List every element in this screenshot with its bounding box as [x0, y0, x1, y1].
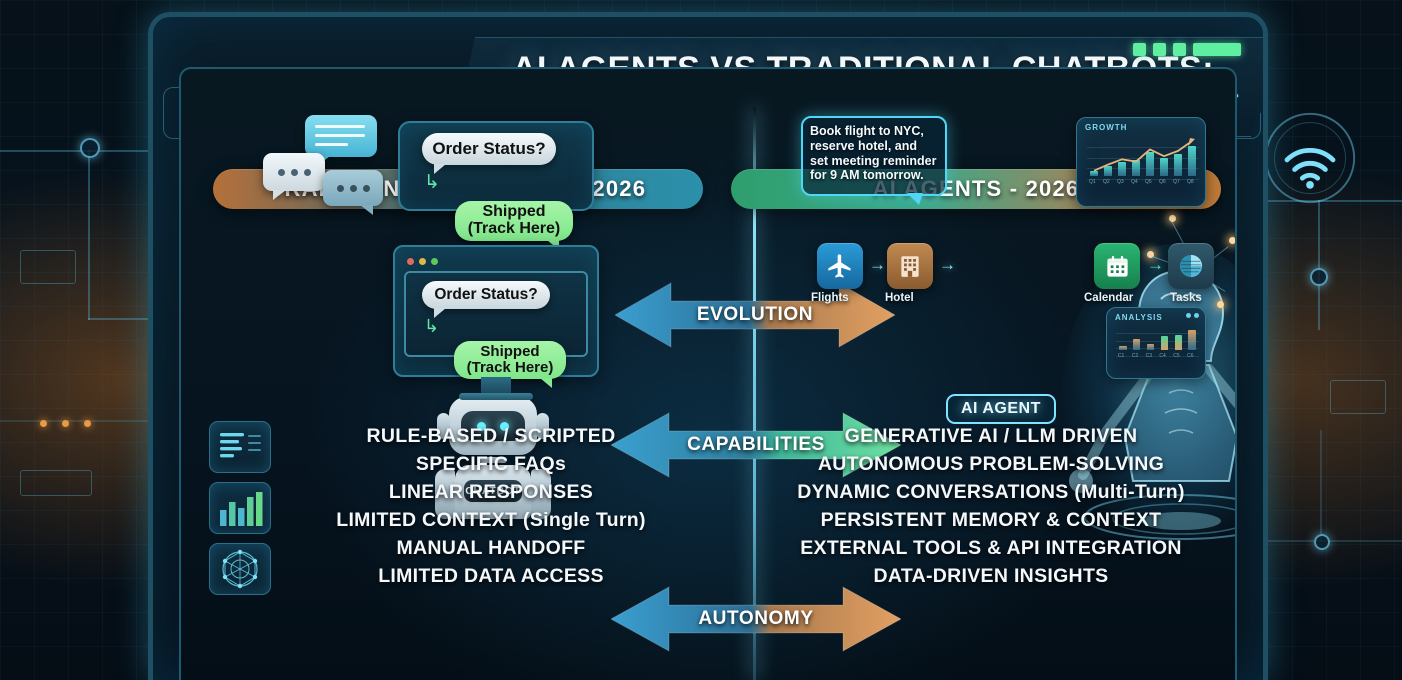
- monitor-base: [459, 393, 533, 400]
- status-block: [1153, 43, 1166, 56]
- network-node: [1229, 237, 1236, 244]
- bg-node: [1310, 268, 1328, 286]
- chat-question-bubble: Order Status?: [422, 133, 556, 165]
- bg-chip: [1330, 380, 1386, 414]
- status-badge: AI AGENT: [946, 394, 1056, 424]
- tool-arrow-icon: →: [869, 255, 886, 275]
- chart-title-analysis: ANALYSIS: [1115, 313, 1163, 322]
- chart-bar: [1188, 330, 1195, 350]
- chat-bubble-dots: [263, 153, 325, 191]
- bg-circuit-line: [88, 318, 148, 320]
- chat-question-text: Order Status?: [432, 139, 545, 159]
- prompt-bubble-text: Book flight to NYC, reserve hotel, and s…: [810, 124, 938, 183]
- chart-bar: [1133, 339, 1140, 350]
- bg-dot: [84, 420, 91, 427]
- chat-card: Order Status? ↳ Shipped (Track Here): [398, 121, 594, 211]
- chart-title-growth: GROWTH: [1085, 123, 1127, 132]
- ai-agent-feature-1: AUTONOMOUS PROBLEM-SOLVING: [818, 453, 1164, 476]
- monitor-answer-line1: Shipped: [480, 344, 539, 360]
- chart-xtick: C4: [1159, 353, 1165, 359]
- tool-label-calendar: Calendar: [1084, 292, 1133, 304]
- chat-bubble-lines: [305, 115, 377, 157]
- tool-label-tasks: Tasks: [1170, 292, 1202, 304]
- bg-dot: [62, 420, 69, 427]
- building-icon[interactable]: [887, 243, 933, 289]
- chart-bar: [1161, 336, 1168, 350]
- bg-node: [1314, 534, 1330, 550]
- wifi-icon: [1262, 110, 1358, 206]
- chat-answer-line2: (Track Here): [468, 221, 561, 238]
- ai-agent-feature-3: PERSISTENT MEMORY & CONTEXT: [821, 509, 1162, 532]
- chart-plot-analysis: C1C2C3C4C5C6: [1116, 325, 1199, 364]
- ai-agent-feature-4: EXTERNAL TOOLS & API INTEGRATION: [800, 537, 1182, 560]
- traditional-feature-2: LINEAR RESPONSES: [389, 481, 593, 504]
- chart-card-controls[interactable]: [1186, 313, 1199, 318]
- bg-chip: [20, 250, 76, 284]
- chart-bar: [1175, 335, 1182, 350]
- chart-bar: [1119, 346, 1126, 350]
- hud-status-blocks: [1133, 43, 1241, 56]
- chat-bubble-cluster: [263, 115, 403, 225]
- chart-xtick: C3: [1146, 353, 1152, 359]
- monitor-stand: [481, 377, 511, 393]
- airplane-icon[interactable]: [817, 243, 863, 289]
- traditional-feature-3: LIMITED CONTEXT (Single Turn): [336, 509, 645, 532]
- monitor-question-text: Order Status?: [434, 286, 537, 304]
- traditional-feature-5: LIMITED DATA ACCESS: [378, 565, 604, 588]
- bg-circuit-line: [0, 150, 148, 152]
- text-list-icon: [209, 421, 271, 473]
- chart-card-analysis: ANALYSIS C1C2C3C4C5C6: [1106, 307, 1206, 379]
- tool-label-hotel: Hotel: [885, 292, 914, 304]
- calendar-icon[interactable]: [1094, 243, 1140, 289]
- connector-arrow-autonomy: AUTONOMY: [611, 581, 901, 657]
- chart-gridline: [1116, 341, 1199, 342]
- chart-xtick: C5: [1173, 353, 1179, 359]
- status-block: [1133, 43, 1146, 56]
- ai-agent-feature-0: GENERATIVE AI / LLM DRIVEN: [845, 425, 1138, 448]
- chat-answer-bubble: Shipped (Track Here): [455, 201, 573, 241]
- traditional-feature-1: SPECIFIC FAQs: [416, 453, 566, 476]
- monitor-answer-bubble: Shipped (Track Here): [454, 341, 566, 379]
- window-dots: [404, 255, 588, 267]
- traditional-feature-4: MANUAL HANDOFF: [396, 537, 585, 560]
- monitor-screen: Order Status? ↳ Shipped (Track Here): [404, 271, 588, 357]
- bg-circuit-line: [1268, 540, 1402, 542]
- bg-circuit-line: [1320, 430, 1322, 542]
- network-node: [1217, 301, 1224, 308]
- bg-circuit-line: [0, 420, 148, 422]
- chart-gridline: [1116, 348, 1199, 349]
- pie-chart-icon[interactable]: [1168, 243, 1214, 289]
- ai-agent-feature-list: GENERATIVE AI / LLM DRIVENAUTONOMOUS PRO…: [741, 425, 1237, 588]
- status-block: [1173, 43, 1186, 56]
- tool-arrow-icon: →: [1147, 255, 1164, 275]
- reply-arrow-icon: ↳: [424, 173, 440, 192]
- monitor-question-bubble: Order Status?: [422, 281, 550, 309]
- connector-label-evolution: EVOLUTION: [697, 304, 813, 326]
- bg-circuit-line: [88, 150, 90, 320]
- bg-circuit-line: [1318, 200, 1320, 330]
- ai-agent-feature-5: DATA-DRIVEN INSIGHTS: [874, 565, 1109, 588]
- chart-xtick: C1: [1118, 353, 1124, 359]
- chart-trend-line: [1087, 136, 1199, 190]
- monitor-illustration: Order Status? ↳ Shipped (Track Here): [393, 245, 599, 377]
- ai-agent-feature-2: DYNAMIC CONVERSATIONS (Multi-Turn): [797, 481, 1185, 504]
- chart-xtick: C2: [1132, 353, 1138, 359]
- connector-label-autonomy: AUTONOMY: [698, 608, 813, 630]
- traditional-feature-0: RULE-BASED / SCRIPTED: [367, 425, 616, 448]
- bar-chart-icon: [209, 482, 271, 534]
- chat-answer-line1: Shipped: [482, 204, 545, 221]
- bg-dot: [40, 420, 47, 427]
- bg-node: [80, 138, 100, 158]
- chart-xtick: C6: [1187, 353, 1193, 359]
- status-bar: [1193, 43, 1241, 56]
- network-globe-icon: [209, 543, 271, 595]
- tool-arrow-icon: →: [939, 255, 956, 275]
- infographic-canvas: TRADITIONAL CHATBOTS - 2026 AI AGENTS - …: [179, 67, 1237, 680]
- tool-label-flights: Flights: [811, 292, 849, 304]
- chart-gridline: [1116, 333, 1199, 334]
- chart-bar: [1147, 344, 1154, 350]
- monitor-answer-line2: (Track Here): [467, 360, 554, 376]
- bg-chip: [20, 470, 92, 496]
- prompt-bubble: Book flight to NYC, reserve hotel, and s…: [801, 116, 947, 196]
- chart-plot-growth: Q1Q2Q3Q4Q5Q6Q7Q8: [1087, 136, 1199, 190]
- chat-bubble-dots: [323, 170, 383, 206]
- display-frame: MARCH 2026 AI AGENTS VS TRADITIONAL CHAT…: [148, 12, 1268, 680]
- reply-arrow-icon: ↳: [424, 317, 439, 335]
- chart-card-growth: GROWTH Q1Q2Q3Q4Q5Q6Q7Q8: [1076, 117, 1206, 207]
